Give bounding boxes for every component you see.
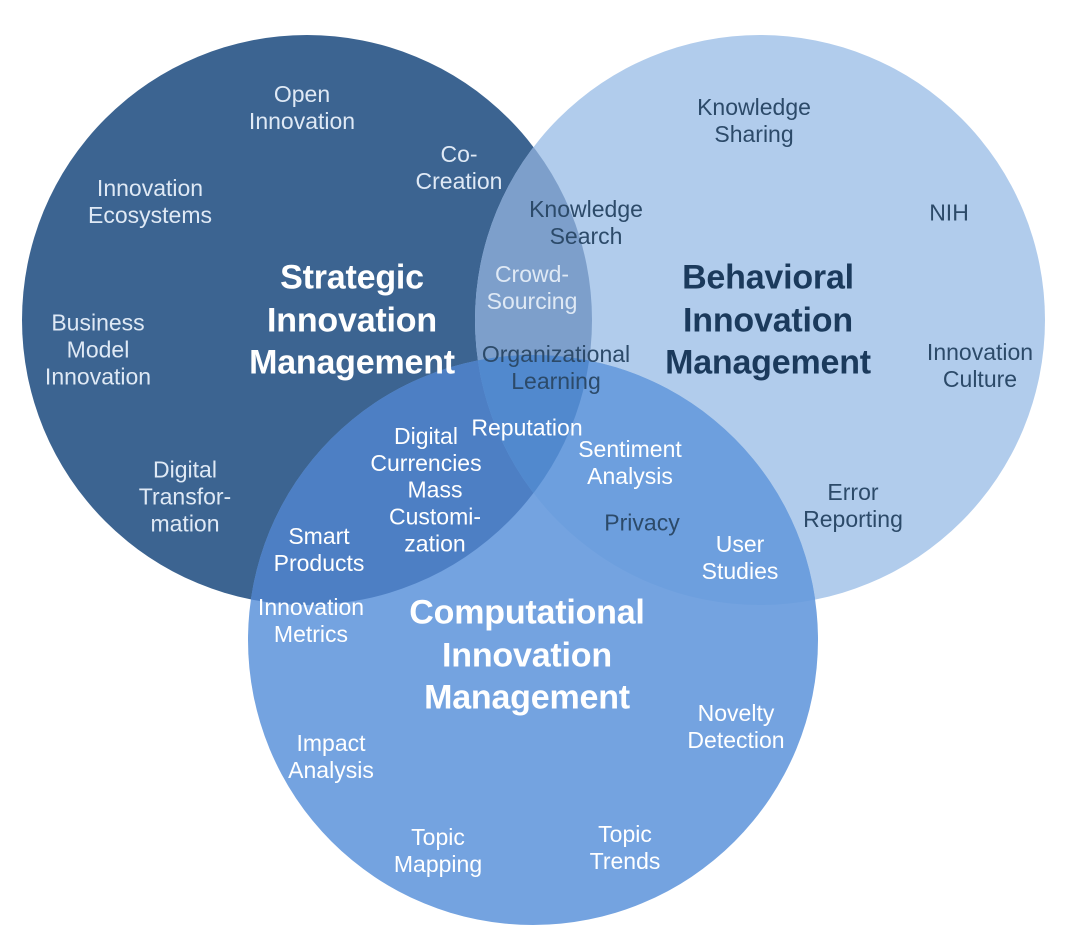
term-computational[interactable]: Impact Analysis (288, 730, 374, 784)
term-behavioral[interactable]: Innovation Culture (927, 339, 1033, 393)
term-behavioral[interactable]: NIH (929, 199, 969, 226)
venn-diagram: Strategic Innovation Management Behavior… (0, 0, 1080, 947)
term-strategic-behavioral[interactable]: Knowledge Search (529, 196, 643, 250)
term-behavioral-computational[interactable]: User Studies (702, 531, 779, 585)
term-strategic-behavioral[interactable]: Crowd- Sourcing (487, 261, 578, 315)
term-strategic[interactable]: Innovation Ecosystems (88, 175, 212, 229)
term-behavioral-computational[interactable]: Sentiment Analysis (578, 436, 682, 490)
term-computational[interactable]: Innovation Metrics (258, 594, 364, 648)
term-strategic[interactable]: Business Model Innovation (45, 309, 151, 390)
circle-title-behavioral: Behavioral Innovation Management (608, 256, 928, 384)
term-strategic[interactable]: Open Innovation (249, 81, 355, 135)
circle-title-computational: Computational Innovation Management (327, 591, 727, 719)
term-computational[interactable]: Novelty Detection (687, 700, 784, 754)
term-strategic-computational[interactable]: Digital Currencies (370, 423, 481, 477)
term-computational[interactable]: Topic Mapping (394, 824, 482, 878)
term-behavioral[interactable]: Error Reporting (803, 479, 903, 533)
term-strategic-computational[interactable]: Mass Customi- zation (389, 476, 481, 557)
term-behavioral-computational[interactable]: Privacy (604, 509, 679, 536)
term-behavioral[interactable]: Knowledge Sharing (697, 94, 811, 148)
term-computational[interactable]: Topic Trends (590, 821, 661, 875)
term-strategic-behavioral[interactable]: Organizational Learning (482, 341, 630, 395)
term-all-three[interactable]: Reputation (471, 414, 582, 441)
term-strategic[interactable]: Digital Transfor- mation (139, 456, 231, 537)
term-strategic[interactable]: Co- Creation (416, 141, 503, 195)
term-strategic-computational[interactable]: Smart Products (274, 523, 365, 577)
circle-title-strategic: Strategic Innovation Management (202, 256, 502, 384)
